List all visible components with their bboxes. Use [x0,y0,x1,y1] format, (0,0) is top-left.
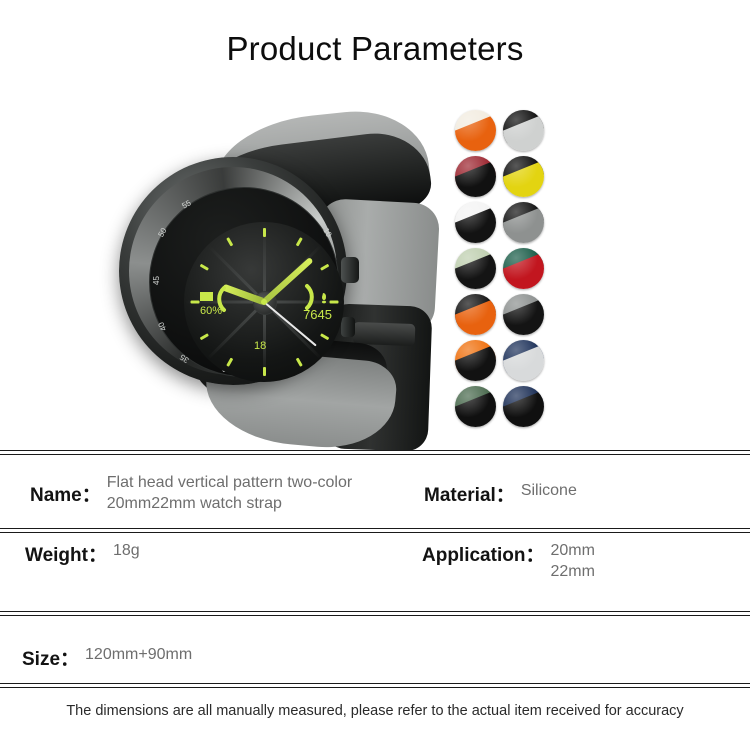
spec-value-application: 20mm 22mm [550,540,594,582]
steps-arc-gauge [302,280,336,314]
dial-tick [295,237,302,246]
color-swatch-grid [455,110,555,432]
dial-tick [295,358,302,367]
table-divider-top [0,450,750,455]
spec-label-weight: Weight： [25,540,107,567]
watch-side-button[interactable] [341,317,355,337]
battery-arc-gauge [194,282,228,316]
watch-bezel: 10 15 20 25 30 35 40 45 50 55 [129,167,337,375]
dial-tick [199,264,208,271]
swatch-grey-black[interactable] [503,294,544,335]
product-image: 10 15 20 25 30 35 40 45 50 55 [95,105,435,435]
spec-label-name: Name： [30,480,101,507]
swatch-gloss [455,202,496,243]
swatch-black-orange[interactable] [455,294,496,335]
swatch-orange-black[interactable] [455,340,496,381]
bezel-number: 55 [180,198,192,210]
swatch-forest-black[interactable] [455,386,496,427]
bezel-number: 35 [178,352,190,364]
spec-value-material: Silicone [521,480,577,501]
dial-tick [226,237,233,246]
swatch-navy-black[interactable] [503,386,544,427]
watch-crown-button[interactable] [341,257,359,283]
spec-value-weight: 18g [113,540,140,561]
swatch-black-silver[interactable] [503,110,544,151]
swatch-red-black[interactable] [455,156,496,197]
swatch-navy-silver[interactable] [503,340,544,381]
table-divider-bottom [0,683,750,688]
swatch-gloss [503,110,544,151]
table-divider-1 [0,528,750,533]
bezel-number: 10 [321,226,333,238]
swatch-sage-black[interactable] [455,248,496,289]
dial-tick [199,333,208,340]
swatch-black-grey[interactable] [503,202,544,243]
spec-label-material: Material： [424,480,515,507]
dial-center-dot [261,299,267,305]
spec-label-size: Size： [22,644,79,671]
spec-row-material: Material： Silicone [424,480,577,507]
watch-face[interactable]: 60% 7645 [184,222,344,382]
table-divider-2 [0,611,750,616]
dial-tick [263,228,266,237]
dial-tick [320,264,329,271]
swatch-green-red[interactable] [503,248,544,289]
swatch-orange-cream[interactable] [455,110,496,151]
page-title: Product Parameters [0,30,750,68]
spec-row-name: Name： Flat head vertical pattern two-col… [30,472,407,514]
swatch-gloss [455,294,496,335]
swatch-gloss [503,340,544,381]
spec-label-application: Application： [422,540,544,567]
date-widget: 18 [254,340,266,352]
swatch-white-black[interactable] [455,202,496,243]
dial-tick [320,333,329,340]
spec-row-size: Size： 120mm+90mm [22,644,192,671]
footer-disclaimer: The dimensions are all manually measured… [0,703,750,719]
bezel-number: 50 [156,226,168,238]
bezel-number: 40 [156,321,168,333]
dial-tick [226,358,233,367]
swatch-gloss [503,248,544,289]
product-parameters-page: Product Parameters 10 15 20 25 30 [0,0,750,750]
spec-row-weight: Weight： 18g [25,540,140,567]
spec-row-application: Application： 20mm 22mm [422,540,595,582]
swatch-black-yellow[interactable] [503,156,544,197]
swatch-gloss [455,248,496,289]
watch-bezel-inner-ring: 10 15 20 25 30 35 40 45 50 55 [149,187,339,377]
swatch-gloss [455,110,496,151]
spec-value-name: Flat head vertical pattern two-color 20m… [107,472,407,514]
swatch-gloss [455,386,496,427]
swatch-gloss [503,386,544,427]
dial-tick [263,367,266,376]
spec-value-size: 120mm+90mm [85,644,192,665]
watch-case: 10 15 20 25 30 35 40 45 50 55 [119,157,347,385]
swatch-gloss [503,156,544,197]
swatch-gloss [455,340,496,381]
swatch-gloss [503,294,544,335]
bezel-number: 45 [152,276,161,285]
swatch-gloss [455,156,496,197]
swatch-gloss [503,202,544,243]
